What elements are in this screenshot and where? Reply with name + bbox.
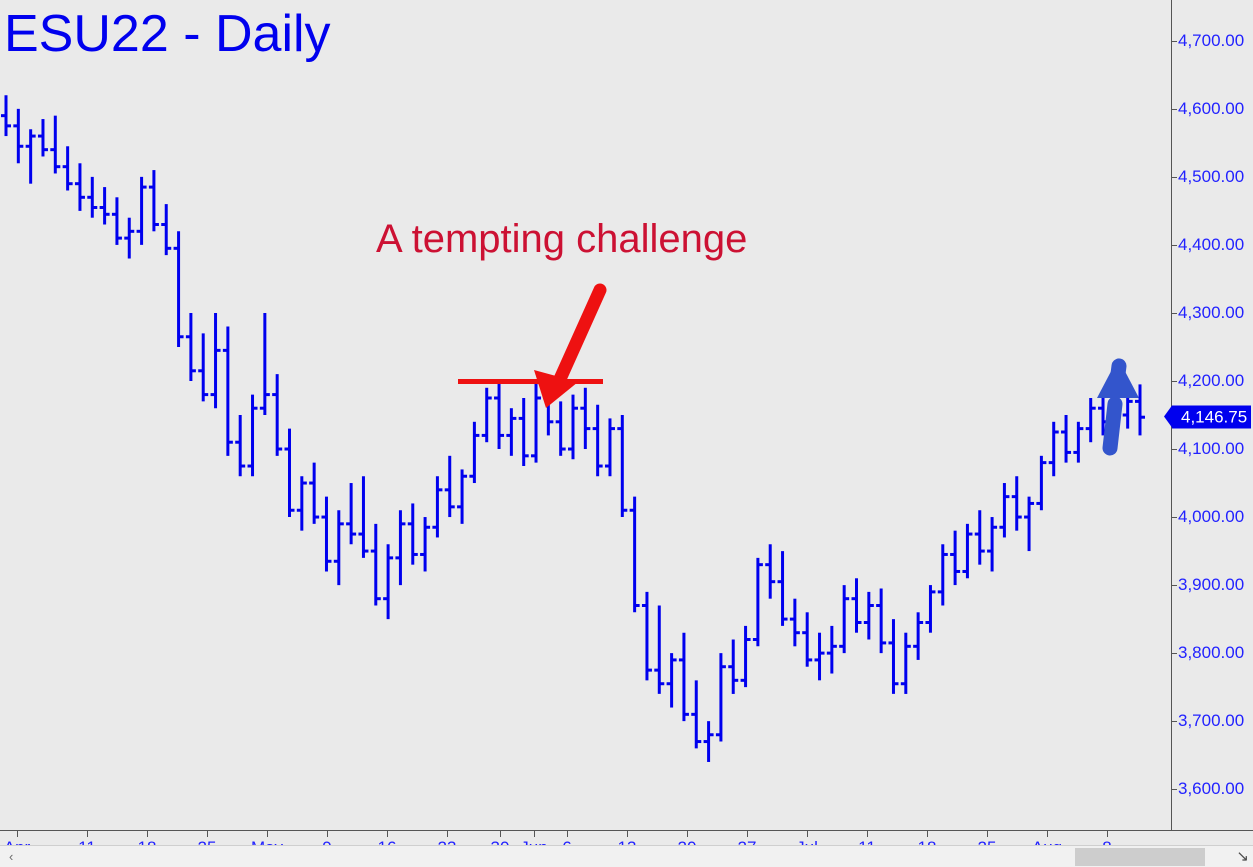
ohlc-bar <box>987 517 997 571</box>
ohlc-bar <box>75 163 85 211</box>
y-axis-tick <box>1171 517 1177 518</box>
ohlc-bar <box>334 510 344 585</box>
ohlc-bar <box>1012 476 1022 530</box>
ohlc-bar <box>272 374 282 456</box>
y-axis-tick <box>1171 109 1177 110</box>
ohlc-bar <box>285 429 295 517</box>
ohlc-bar <box>248 395 258 477</box>
ohlc-bars-layer <box>0 0 1171 830</box>
y-axis-tick <box>1171 41 1177 42</box>
x-axis-tick <box>267 831 268 837</box>
down-left-arrow-icon <box>534 290 600 408</box>
ohlc-bar <box>100 187 110 224</box>
ohlc-bar <box>13 109 23 163</box>
ohlc-bar <box>938 544 948 605</box>
ohlc-bar <box>506 408 516 456</box>
ohlc-bar <box>174 231 184 347</box>
ohlc-bar <box>186 313 196 381</box>
ohlc-bar <box>149 170 159 231</box>
y-axis-label: 3,900.00 <box>1178 575 1244 595</box>
x-axis-tick <box>500 831 501 837</box>
ohlc-bar <box>716 653 726 741</box>
ohlc-bar <box>1110 401 1120 442</box>
ohlc-bar <box>852 578 862 632</box>
horizontal-scrollbar[interactable]: ‹ ↘ <box>0 845 1253 867</box>
ohlc-bar <box>260 313 270 415</box>
ohlc-bar <box>531 381 541 463</box>
y-axis-tick <box>1171 449 1177 450</box>
annotation-callout-text: A tempting challenge <box>376 216 747 262</box>
y-axis-label: 3,800.00 <box>1178 643 1244 663</box>
y-axis-label: 4,200.00 <box>1178 371 1244 391</box>
x-axis-tick <box>567 831 568 837</box>
resize-grip-icon[interactable]: ↘ <box>1236 848 1249 866</box>
annotation-arrows-layer <box>0 0 1171 830</box>
ohlc-bar <box>1135 384 1145 435</box>
ohlc-bar <box>790 599 800 647</box>
y-axis-tick <box>1171 721 1177 722</box>
up-arrow-icon <box>1097 358 1139 448</box>
ohlc-bar <box>999 483 1009 537</box>
ohlc-bar <box>901 633 911 694</box>
x-axis-tick <box>147 831 148 837</box>
x-axis-tick <box>447 831 448 837</box>
ohlc-bar <box>309 463 319 524</box>
x-axis-tick <box>687 831 688 837</box>
ohlc-bar <box>63 146 73 190</box>
y-axis-tick <box>1171 789 1177 790</box>
y-axis-tick <box>1171 177 1177 178</box>
ohlc-bar <box>691 680 701 748</box>
ohlc-bar <box>1 95 11 136</box>
ohlc-bar <box>137 177 147 245</box>
ohlc-bar <box>1098 391 1108 435</box>
ohlc-bar <box>482 388 492 442</box>
ohlc-bar <box>864 592 874 640</box>
ohlc-bar <box>519 398 529 466</box>
ohlc-bar <box>642 592 652 680</box>
ohlc-bar <box>975 510 985 564</box>
ohlc-bar <box>494 381 504 449</box>
ohlc-bar <box>420 517 430 571</box>
ohlc-bar <box>1123 388 1133 429</box>
ohlc-bar <box>383 544 393 619</box>
ohlc-bar <box>913 612 923 660</box>
y-axis-label: 4,300.00 <box>1178 303 1244 323</box>
x-axis-tick <box>867 831 868 837</box>
ohlc-bar <box>839 585 849 653</box>
ohlc-bar <box>358 476 368 558</box>
y-axis-label: 3,700.00 <box>1178 711 1244 731</box>
y-axis-tick <box>1171 381 1177 382</box>
ohlc-bar <box>617 415 627 517</box>
y-axis-tick <box>1171 653 1177 654</box>
ohlc-bar <box>457 469 467 523</box>
ohlc-bar <box>888 619 898 694</box>
y-axis-label: 4,400.00 <box>1178 235 1244 255</box>
ohlc-bar <box>395 510 405 585</box>
page-title: ESU22 - Daily <box>4 8 331 60</box>
ohlc-bar <box>753 558 763 646</box>
y-axis-label: 4,600.00 <box>1178 99 1244 119</box>
x-axis-tick <box>927 831 928 837</box>
ohlc-bar <box>371 524 381 606</box>
ohlc-bar <box>50 116 60 174</box>
ohlc-bar <box>654 605 664 693</box>
ohlc-bar <box>87 177 97 218</box>
y-axis-label: 4,100.00 <box>1178 439 1244 459</box>
y-axis-tick <box>1171 585 1177 586</box>
ohlc-bar <box>679 633 689 721</box>
ohlc-bar <box>1024 497 1034 551</box>
scrollbar-thumb[interactable] <box>1075 848 1205 866</box>
y-axis[interactable]: 4,700.004,600.004,500.004,400.004,300.00… <box>1171 0 1253 830</box>
x-axis-tick <box>1107 831 1108 837</box>
ohlc-bar <box>950 531 960 585</box>
ohlc-bar <box>321 497 331 572</box>
ohlc-bar <box>161 204 171 255</box>
y-axis-tick <box>1171 313 1177 314</box>
x-axis-tick <box>1047 831 1048 837</box>
scroll-left-arrow-icon[interactable]: ‹ <box>9 849 13 865</box>
ohlc-bar <box>556 401 566 455</box>
y-axis-label: 4,500.00 <box>1178 167 1244 187</box>
ohlc-bar <box>876 588 886 653</box>
ohlc-bar <box>346 483 356 544</box>
ohlc-bar <box>962 524 972 578</box>
ohlc-bar <box>469 422 479 483</box>
ohlc-bar <box>1073 422 1083 463</box>
x-axis-tick <box>807 831 808 837</box>
x-axis-tick <box>207 831 208 837</box>
y-axis-tick <box>1171 245 1177 246</box>
ohlc-bar <box>235 415 245 476</box>
ohlc-bar <box>728 640 738 694</box>
x-axis-tick <box>627 831 628 837</box>
ohlc-bar <box>704 721 714 762</box>
ohlc-bar <box>1036 456 1046 510</box>
ohlc-bar <box>211 313 221 408</box>
x-axis-tick <box>987 831 988 837</box>
ohlc-bar <box>605 418 615 476</box>
ohlc-bar <box>38 119 48 156</box>
x-axis-tick <box>87 831 88 837</box>
ohlc-bar <box>543 378 553 436</box>
ohlc-bar <box>580 388 590 449</box>
ohlc-bar <box>223 327 233 456</box>
ohlc-bar <box>925 585 935 633</box>
ohlc-bar <box>445 456 455 517</box>
x-axis-tick <box>747 831 748 837</box>
ohlc-bar <box>297 476 307 530</box>
ohlc-bar <box>568 395 578 460</box>
ohlc-bar <box>593 405 603 476</box>
ohlc-bar <box>1086 398 1096 442</box>
ohlc-bar <box>112 197 122 245</box>
ohlc-bar <box>198 333 208 401</box>
ohlc-bar <box>408 503 418 564</box>
x-axis-tick <box>387 831 388 837</box>
x-axis-tick <box>17 831 18 837</box>
ohlc-bar <box>778 551 788 626</box>
ohlc-bar <box>827 626 837 674</box>
ohlc-bar <box>1049 422 1059 476</box>
ohlc-bar <box>667 653 677 707</box>
ohlc-bar <box>765 544 775 598</box>
plot-area[interactable]: ESU22 - Daily A tempting challenge <box>0 0 1171 830</box>
y-axis-label: 3,600.00 <box>1178 779 1244 799</box>
y-axis-label: 4,000.00 <box>1178 507 1244 527</box>
current-price-marker[interactable]: 4,146.75 <box>1172 406 1251 429</box>
y-axis-label: 4,700.00 <box>1178 31 1244 51</box>
ohlc-bar <box>432 476 442 537</box>
ohlc-bar <box>1061 415 1071 463</box>
ohlc-bar <box>630 497 640 613</box>
ohlc-bar <box>741 626 751 687</box>
resistance-line[interactable] <box>458 379 603 384</box>
ohlc-bar <box>26 129 36 183</box>
ohlc-bar <box>815 633 825 681</box>
x-axis-tick <box>534 831 535 837</box>
chart-window: ESU22 - Daily A tempting challenge 4,700… <box>0 0 1253 867</box>
x-axis-tick <box>327 831 328 837</box>
ohlc-bar <box>802 612 812 666</box>
ohlc-bar <box>124 218 134 259</box>
